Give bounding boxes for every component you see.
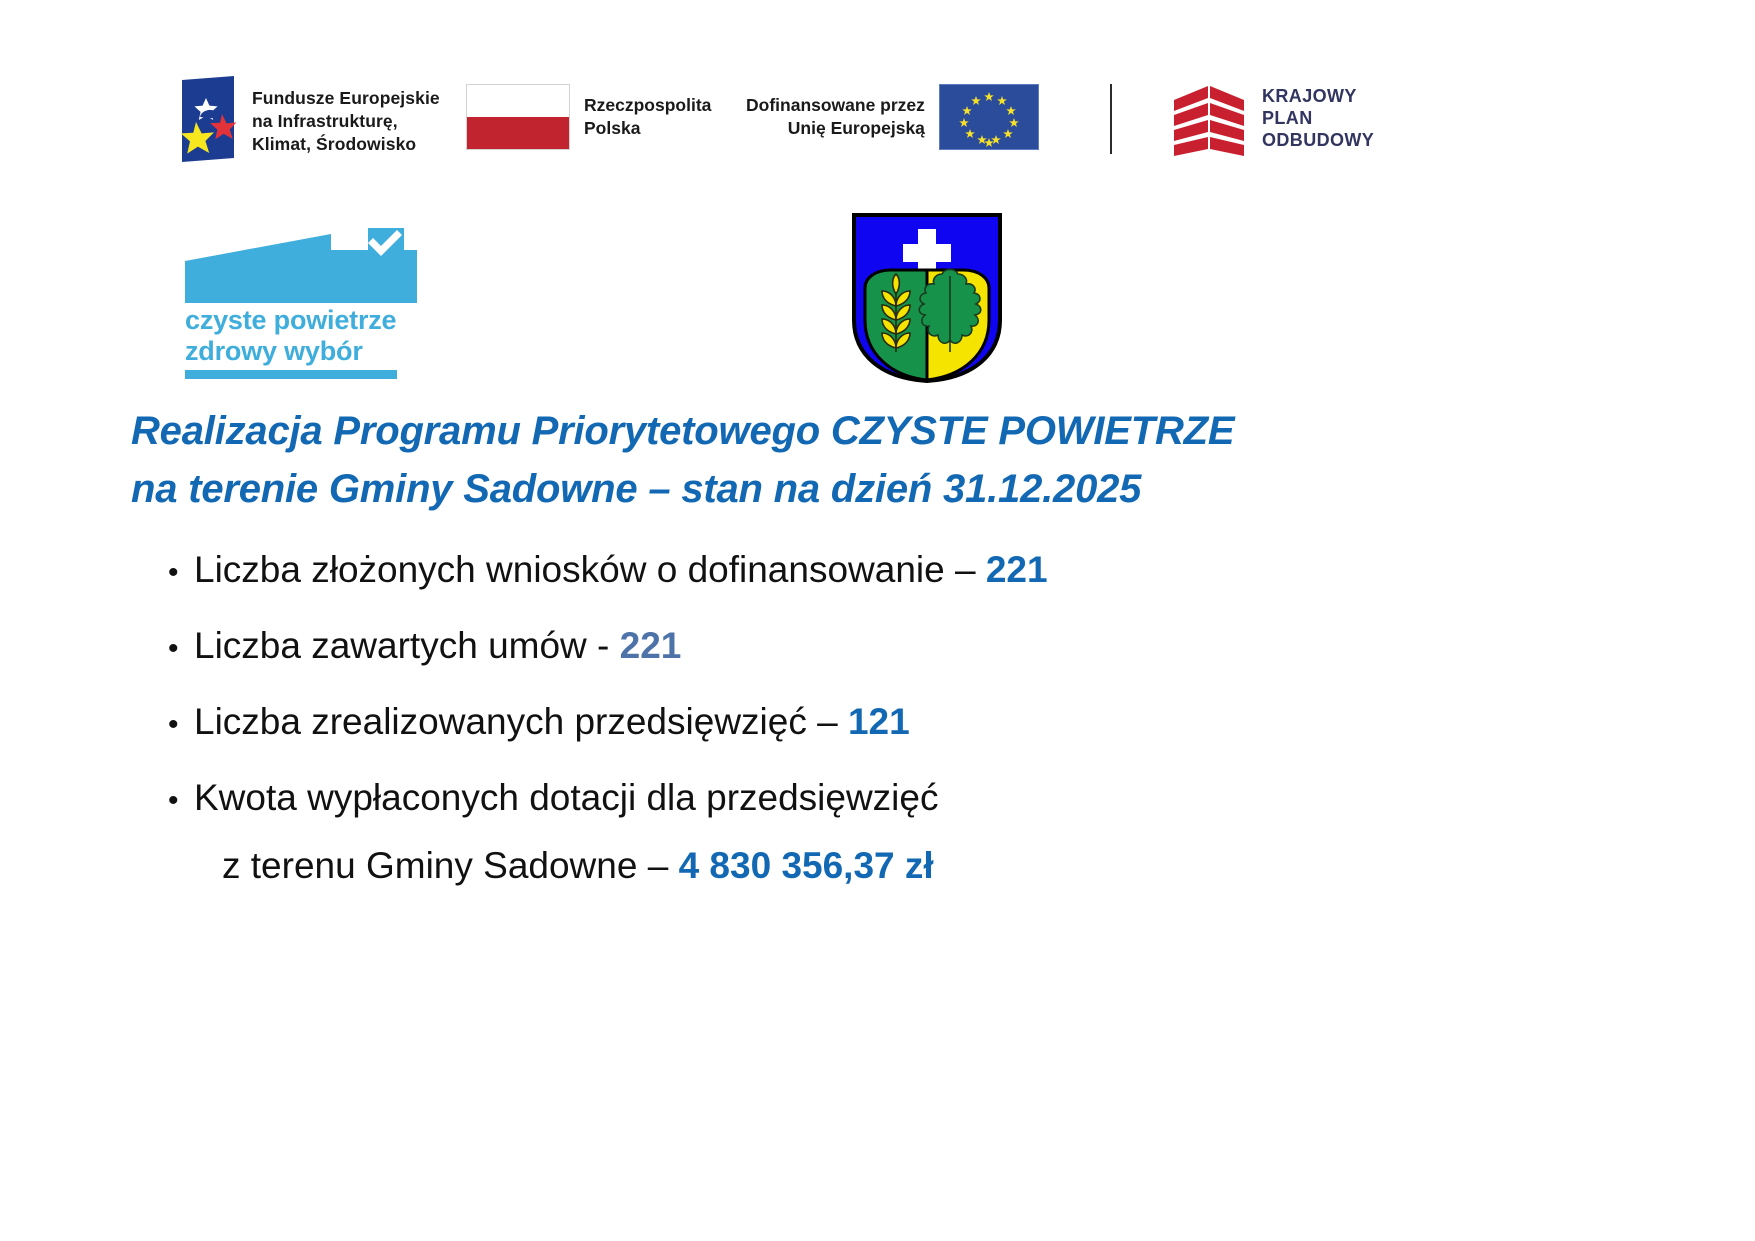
list-item-text: Liczba zawartych umów - 221: [194, 622, 1588, 670]
title-line-1: Realizacja Programu Priorytetowego CZYST…: [131, 402, 1631, 460]
eu-line-1: Dofinansowane przez: [746, 95, 925, 115]
funding-logo-strip: Fundusze Europejskie na Infrastrukturę, …: [0, 62, 1755, 180]
list-item-label: Liczba zrealizowanych przedsięwzięć –: [194, 701, 848, 742]
fundusze-europejskie-label: Fundusze Europejskie na Infrastrukturę, …: [252, 87, 440, 157]
polish-flag-icon: [466, 84, 570, 150]
unia-europejska-logo: Dofinansowane przez Unię Europejską: [746, 84, 1039, 150]
fe-line-1: Fundusze Europejskie: [252, 88, 440, 108]
house-checkmark-icon: [185, 228, 417, 303]
eu-funds-flag-icon: [176, 76, 238, 167]
krajowy-plan-odbudowy-logo: KRAJOWY PLAN ODBUDOWY: [1172, 78, 1374, 160]
list-item-label: Liczba złożonych wniosków o dofinansowan…: [194, 549, 986, 590]
list-item-text: Liczba złożonych wniosków o dofinansowan…: [194, 546, 1588, 594]
rzeczpospolita-polska-label: Rzeczpospolita Polska: [584, 94, 711, 141]
list-item-body: Kwota wypłaconych dotacji dla przedsięwz…: [194, 774, 1588, 890]
list-item-value: 221: [986, 549, 1048, 590]
fe-line-2: na Infrastrukturę,: [252, 111, 398, 131]
logo-divider: [1110, 84, 1112, 154]
kpo-mark-icon: [1172, 78, 1246, 160]
list-item-text: Kwota wypłaconych dotacji dla przedsięwz…: [194, 774, 1588, 822]
czyste-powietrze-wordmark: czyste powietrze zdrowy wybór: [185, 305, 417, 366]
list-item: • Liczba złożonych wniosków o dofinansow…: [168, 546, 1588, 594]
list-item-text: Liczba zrealizowanych przedsięwzięć – 12…: [194, 698, 1588, 746]
fe-line-3: Klimat, Środowisko: [252, 134, 416, 154]
list-item-body: Liczba zawartych umów - 221: [194, 622, 1588, 670]
czyste-powietrze-underline: [185, 370, 397, 379]
fundusze-europejskie-logo: Fundusze Europejskie na Infrastrukturę, …: [176, 76, 440, 167]
kpo-label: KRAJOWY PLAN ODBUDOWY: [1262, 86, 1374, 152]
kpo-line-2: PLAN: [1262, 108, 1313, 128]
rp-line-2: Polska: [584, 118, 640, 138]
list-item-body: Liczba złożonych wniosków o dofinansowan…: [194, 546, 1588, 594]
eu-line-2: Unię Europejską: [788, 118, 925, 138]
list-item-text-continued: z terenu Gminy Sadowne – 4 830 356,37 zł: [194, 842, 1588, 890]
kpo-line-3: ODBUDOWY: [1262, 130, 1374, 150]
statistics-list: • Liczba złożonych wniosków o dofinansow…: [168, 546, 1588, 918]
list-item-value: 121: [848, 701, 910, 742]
eu-flag-icon: [939, 84, 1039, 150]
page-title: Realizacja Programu Priorytetowego CZYST…: [131, 402, 1631, 519]
list-item-value: 221: [620, 625, 682, 666]
list-item: • Liczba zawartych umów - 221: [168, 622, 1588, 670]
list-item-value: 4 830 356,37 zł: [679, 845, 934, 886]
rzeczpospolita-polska-logo: Rzeczpospolita Polska: [466, 84, 711, 150]
bullet-icon: •: [168, 558, 194, 588]
list-item: • Liczba zrealizowanych przedsięwzięć – …: [168, 698, 1588, 746]
rp-line-1: Rzeczpospolita: [584, 95, 711, 115]
czyste-powietrze-logo: czyste powietrze zdrowy wybór: [185, 228, 417, 383]
bullet-icon: •: [168, 786, 194, 816]
list-item: • Kwota wypłaconych dotacji dla przedsię…: [168, 774, 1588, 890]
bullet-icon: •: [168, 710, 194, 740]
list-item-label: Liczba zawartych umów -: [194, 625, 620, 666]
bullet-icon: •: [168, 634, 194, 664]
herb-gminy-sadowne-icon: [851, 212, 1003, 384]
cp-line-2: zdrowy wybór: [185, 336, 363, 366]
list-item-label-2: z terenu Gminy Sadowne –: [222, 845, 679, 886]
kpo-line-1: KRAJOWY: [1262, 86, 1357, 106]
list-item-body: Liczba zrealizowanych przedsięwzięć – 12…: [194, 698, 1588, 746]
cp-line-1: czyste powietrze: [185, 305, 396, 335]
title-line-2: na terenie Gminy Sadowne – stan na dzień…: [131, 460, 1631, 518]
unia-europejska-label: Dofinansowane przez Unię Europejską: [746, 94, 925, 141]
